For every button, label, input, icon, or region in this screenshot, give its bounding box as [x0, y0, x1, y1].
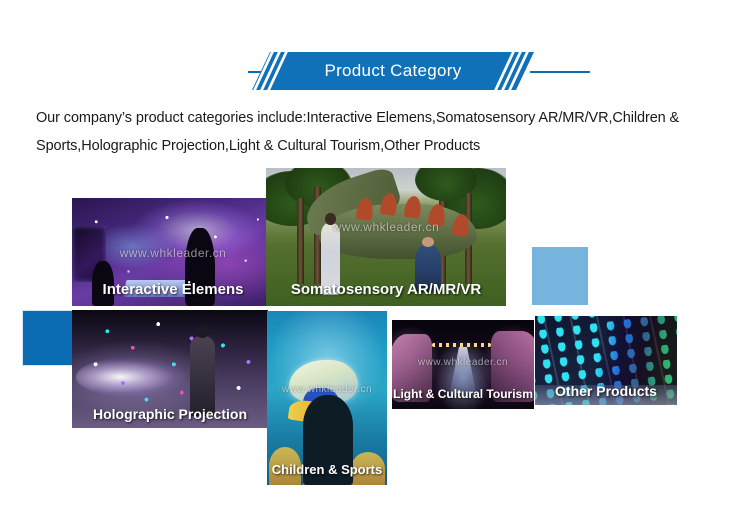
children-sports-image — [267, 311, 387, 485]
light-strip — [432, 343, 492, 347]
product-category-page: Product Category Our company’s product c… — [0, 0, 750, 519]
palm-trunk-left — [297, 198, 304, 284]
tile-caption-somatosensory: Somatosensory AR/MR/VR — [266, 281, 506, 298]
tile-caption-interactive-elemens: Interactive Elemens — [72, 281, 274, 298]
product-tile-children-sports[interactable]: www.whkleader.cn Children & Sports — [267, 311, 387, 485]
product-tile-holographic-projection[interactable]: www.whkleader.cn Holographic Projection — [72, 310, 268, 428]
header-banner: Product Category — [252, 52, 534, 90]
tile-caption-holographic-projection: Holographic Projection — [72, 406, 268, 422]
tile-caption-light-cultural-tourism: Light & Cultural Tourism — [392, 387, 534, 401]
tile-caption-other-products: Other Products — [535, 383, 677, 399]
section-header: Product Category — [0, 52, 750, 92]
visitor-crouching-head — [422, 237, 434, 247]
decor-square-right — [532, 247, 588, 305]
wall-side-panel — [72, 226, 106, 282]
visitor-silhouette — [190, 336, 215, 416]
decor-square-left — [22, 310, 78, 366]
header-rule-right — [530, 71, 590, 73]
dinosaur-plate-3 — [404, 195, 423, 219]
intro-paragraph: Our company’s product categories include… — [36, 104, 742, 161]
product-tile-other-products[interactable]: www.whkleader.cn Other Products — [535, 316, 677, 405]
product-tile-somatosensory[interactable]: www.whkleader.cn Somatosensory AR/MR/VR — [266, 168, 506, 306]
visitor-standing-head — [325, 213, 336, 224]
product-tile-light-cultural-tourism[interactable]: www.whkleader.cn Light & Cultural Touris… — [392, 320, 534, 409]
product-tile-interactive-elemens[interactable]: www.whkleader.cn Interactive Elemens — [72, 198, 274, 306]
tile-caption-children-sports: Children & Sports — [267, 462, 387, 477]
page-title: Product Category — [252, 52, 534, 90]
visitor-head — [196, 326, 209, 337]
